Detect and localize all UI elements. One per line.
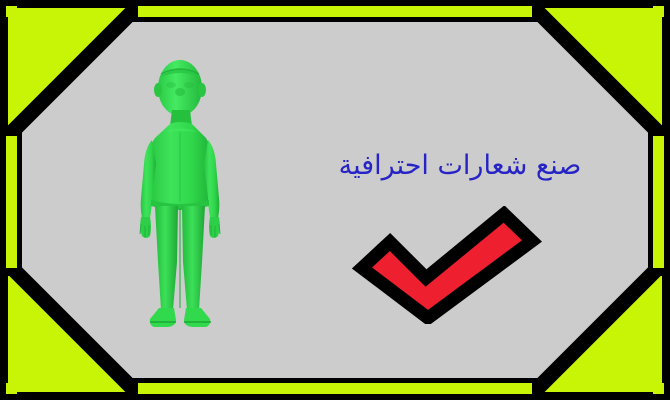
headline-text: صنع شعارات احترافية xyxy=(300,150,620,182)
edge-stripe-bottom xyxy=(138,383,532,394)
edge-stripe-right xyxy=(653,136,664,268)
corner-notch-bottom-left xyxy=(6,383,17,394)
corner-notch-bottom-right xyxy=(653,383,664,394)
green-mannequin-figure xyxy=(128,52,233,334)
red-check-mark-icon xyxy=(352,206,542,324)
edge-stripe-left xyxy=(6,136,17,268)
corner-notch-top-right xyxy=(653,6,664,17)
corner-notch-top-left xyxy=(6,6,17,17)
poster-canvas: صنع شعارات احترافية xyxy=(0,0,670,400)
edge-stripe-top xyxy=(138,6,532,17)
poster-stage xyxy=(8,8,662,392)
